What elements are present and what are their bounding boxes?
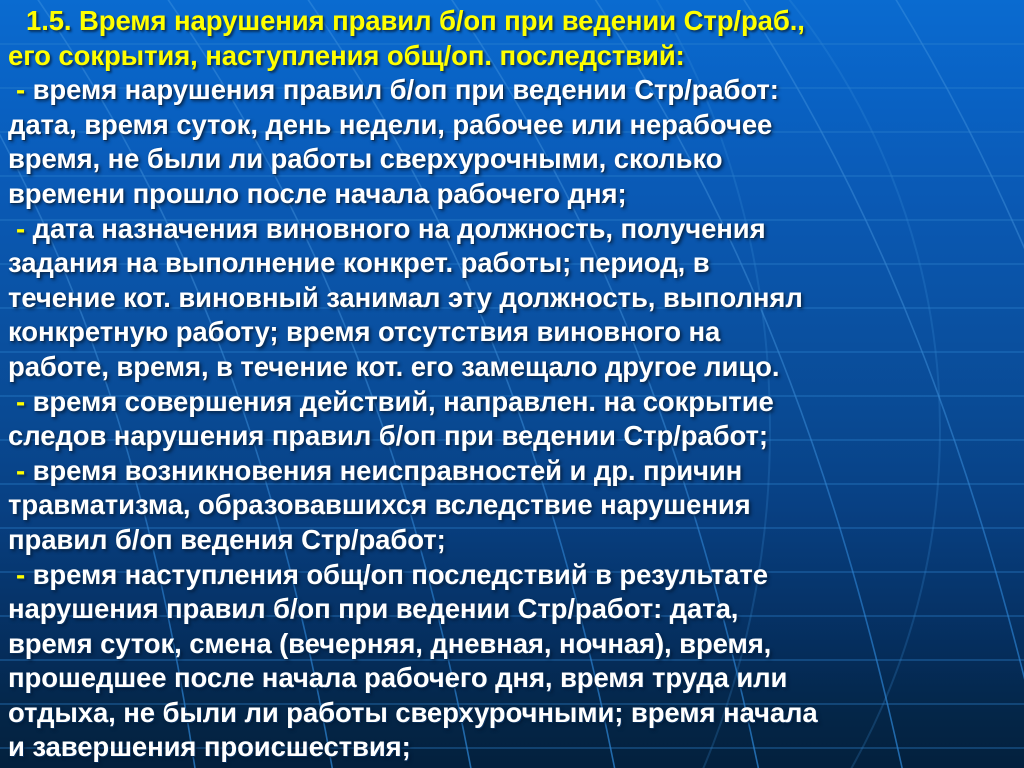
title-line: его сокрытия, наступления общ/оп. послед… [8,39,1016,74]
body-line: - время возникновения неисправностей и д… [8,454,1016,489]
body-line-text: дата назначения виновного на должность, … [33,213,766,244]
body-line: нарушения правил б/оп при ведении Стр/ра… [8,592,1016,627]
presentation-slide: 1.5. Время нарушения правил б/оп при вед… [0,0,1024,768]
body-line-text: задания на выполнение конкрет. работы; п… [8,247,710,278]
body-line: дата, время суток, день недели, рабочее … [8,108,1016,143]
body-line: - время наступления общ/оп последствий в… [8,558,1016,593]
body-line: время, не были ли работы сверхурочными, … [8,142,1016,177]
body-line: течение кот. виновный занимал эту должно… [8,281,1016,316]
body-line: следов нарушения правил б/оп при ведении… [8,419,1016,454]
bullet-dash: - [16,559,25,590]
body-line-text: время наступления общ/оп последствий в р… [33,559,768,590]
body-line-text: время суток, смена (вечерняя, дневная, н… [8,628,771,659]
body-line-text: конкретную работу; время отсутствия вино… [8,316,720,347]
body-line-text: работе, время, в течение кот. его замеща… [8,351,779,382]
body-line-text: дата, время суток, день недели, рабочее … [8,109,772,140]
body-line: отдыха, не были ли работы сверхурочными;… [8,696,1016,731]
body-line: правил б/оп ведения Стр/работ; [8,523,1016,558]
body-line: - время совершения действий, направлен. … [8,385,1016,420]
body-line: - дата назначения виновного на должность… [8,212,1016,247]
body-line-text: время нарушения правил б/оп при ведении … [33,74,779,105]
bullet-dash: - [16,213,25,244]
body-line-text: время возникновения неисправностей и др.… [33,455,743,486]
bullet-dash: - [16,386,25,417]
bullet-dash: - [16,74,25,105]
body-line-text: время, не были ли работы сверхурочными, … [8,143,722,174]
body-line-text: отдыха, не были ли работы сверхурочными;… [8,697,818,728]
body-line-text: течение кот. виновный занимал эту должно… [8,282,803,313]
slide-content: 1.5. Время нарушения правил б/оп при вед… [0,0,1024,765]
title-line: 1.5. Время нарушения правил б/оп при вед… [8,4,1016,39]
body-line-text: травматизма, образовавшихся вследствие н… [8,489,751,520]
body-line: время суток, смена (вечерняя, дневная, н… [8,627,1016,662]
body-line: работе, время, в течение кот. его замеща… [8,350,1016,385]
body-line-text: следов нарушения правил б/оп при ведении… [8,420,768,451]
body-line: прошедшее после начала рабочего дня, вре… [8,661,1016,696]
body-line-text: времени прошло после начала рабочего дня… [8,178,627,209]
body-line: - время нарушения правил б/оп при ведени… [8,73,1016,108]
body-line: времени прошло после начала рабочего дня… [8,177,1016,212]
slide-body: - время нарушения правил б/оп при ведени… [8,73,1016,765]
body-line-text: прошедшее после начала рабочего дня, вре… [8,662,787,693]
body-line-text: нарушения правил б/оп при ведении Стр/ра… [8,593,738,624]
body-line-text: правил б/оп ведения Стр/работ; [8,524,446,555]
slide-title: 1.5. Время нарушения правил б/оп при вед… [8,4,1016,73]
body-line: и завершения происшествия; [8,730,1016,765]
bullet-dash: - [16,455,25,486]
body-line-text: и завершения происшествия; [8,731,411,762]
body-line: конкретную работу; время отсутствия вино… [8,315,1016,350]
body-line-text: время совершения действий, направлен. на… [33,386,774,417]
body-line: травматизма, образовавшихся вследствие н… [8,488,1016,523]
body-line: задания на выполнение конкрет. работы; п… [8,246,1016,281]
